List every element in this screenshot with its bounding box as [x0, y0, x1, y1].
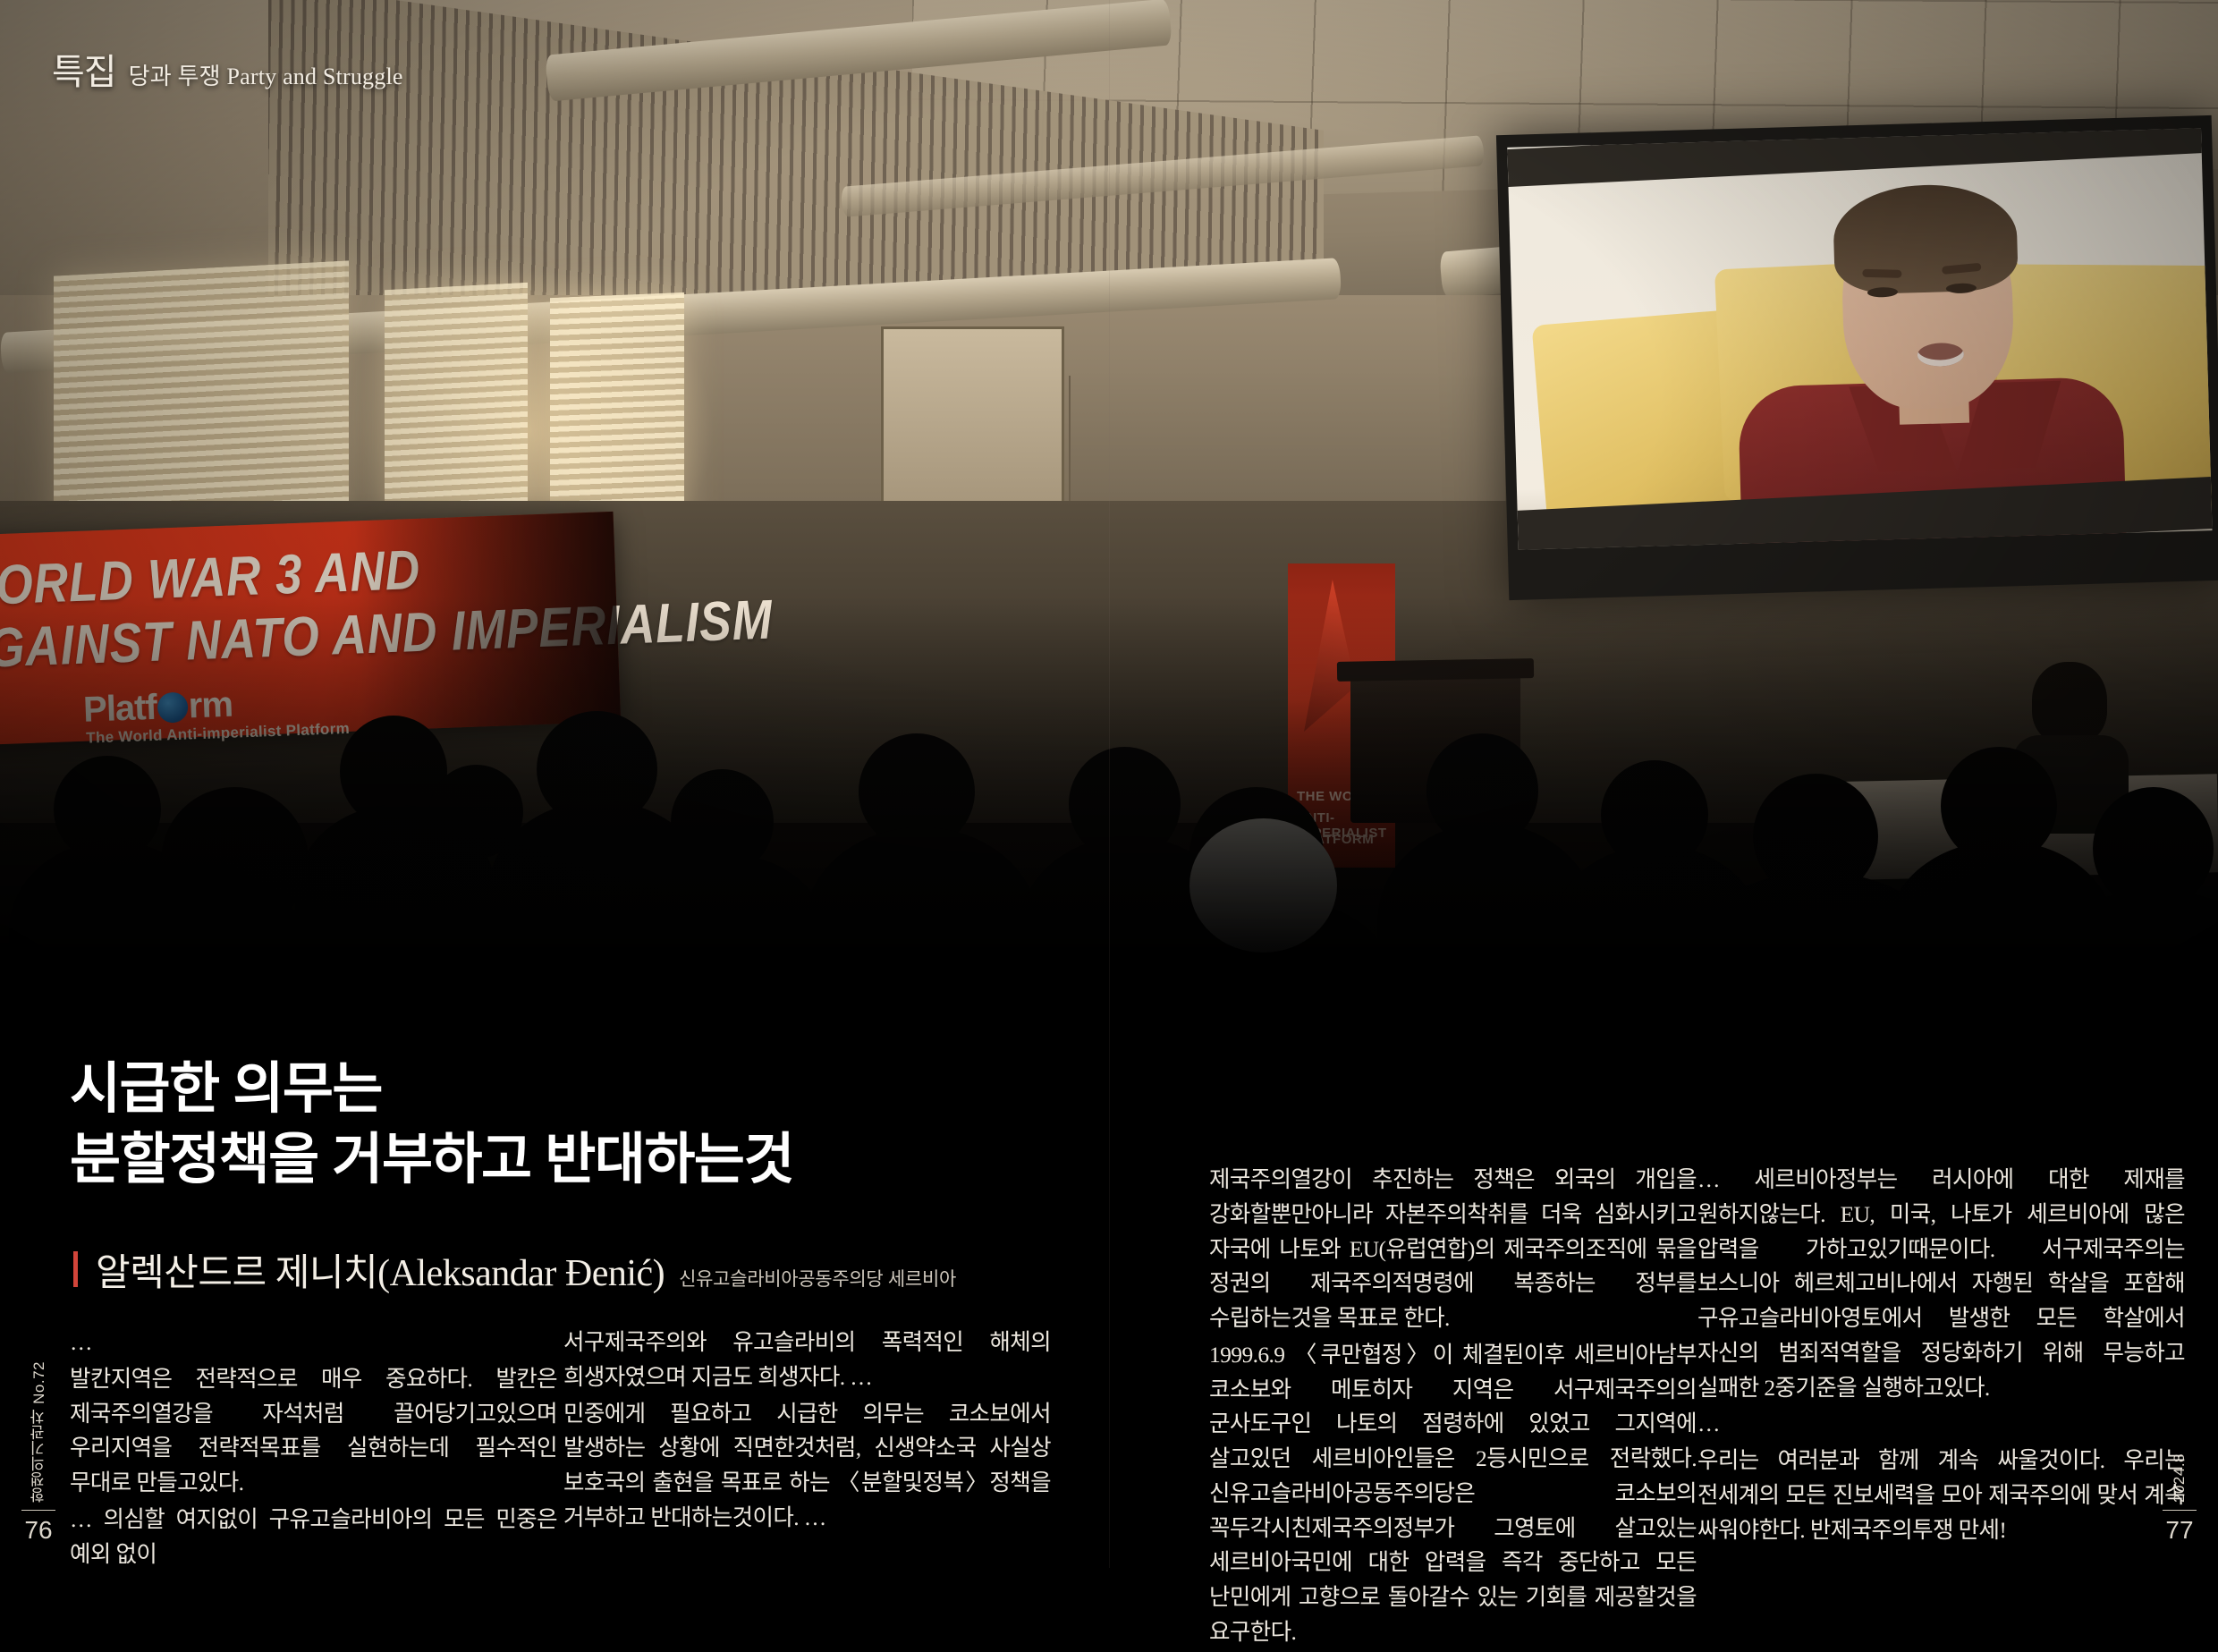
byline-accent-bar — [73, 1251, 78, 1287]
paragraph: 1999.6.9 〈쿠만협정〉이 체결된이후 세르비아남부 코소보와 메토히자 … — [1209, 1338, 1697, 1650]
kicker-subtitle: 당과 투쟁 Party and Struggle — [129, 58, 403, 91]
paragraph: … — [1697, 1407, 2185, 1442]
author-name: 알렉산드르 제니치(Aleksandar Đenić) — [96, 1242, 665, 1297]
article-body: … 발칸지역은 전략적으로 매우 중요하다. 발칸은 제국주의열강을 자석처럼 … — [0, 0, 2218, 1568]
text-column-3: 제국주의열강이 추진하는 정책은 외국의 개입을 강화할뿐만아니라 자본주의착취… — [1209, 1163, 1697, 1652]
paragraph: … 의심할 여지없이 구유고슬라비아의 모든 민중은 예외 없이 — [70, 1503, 557, 1572]
headline-line-2: 분할정책을 거부하고 반대하는것 — [70, 1124, 956, 1195]
text-column-2: 서구제국주의와 유고슬라비의 폭력적인 해체의 희생자였으며 지금도 희생자다.… — [563, 1326, 1051, 1538]
headline-line-1: 시급한 의무는 — [70, 1054, 956, 1124]
byline: 알렉산드르 제니치(Aleksandar Đenić) 신유고슬라비아공동주의당… — [70, 1242, 956, 1297]
paragraph: … — [70, 1326, 557, 1360]
paragraph: 제국주의열강이 추진하는 정책은 외국의 개입을 강화할뿐만아니라 자본주의착취… — [1209, 1163, 1697, 1336]
paragraph: 민중에게 필요하고 시급한 의무는 코소보에서 발생하는 상황에 직면한것처럼,… — [563, 1397, 1051, 1536]
kicker-korean: 특집 — [52, 43, 116, 95]
author-affiliation: 신유고슬라비아공동주의당 세르비아 — [679, 1265, 956, 1292]
paragraph: 서구제국주의와 유고슬라비의 폭력적인 해체의 희생자였으며 지금도 희생자다.… — [563, 1326, 1051, 1395]
text-column-1: … 발칸지역은 전략적으로 매우 중요하다. 발칸은 제국주의열강을 자석처럼 … — [70, 1326, 557, 1573]
article-title-block: 시급한 의무는 분할정책을 거부하고 반대하는것 알렉산드르 제니치(Aleks… — [70, 1054, 956, 1297]
text-column-4: … 세르비아정부는 러시아에 대한 제재를 원하지않는다. EU, 미국, 나토… — [1697, 1163, 2185, 1549]
section-kicker: 특집 당과 투쟁 Party and Struggle — [52, 43, 403, 95]
paragraph: … 세르비아정부는 러시아에 대한 제재를 원하지않는다. EU, 미국, 나토… — [1697, 1163, 2185, 1405]
paragraph: 우리는 여러분과 함께 계속 싸울것이다. 우리는 전세계의 모든 진보세력을 … — [1697, 1444, 2185, 1547]
paragraph: 발칸지역은 전략적으로 매우 중요하다. 발칸은 제국주의열강을 자석처럼 끌어… — [70, 1362, 557, 1501]
